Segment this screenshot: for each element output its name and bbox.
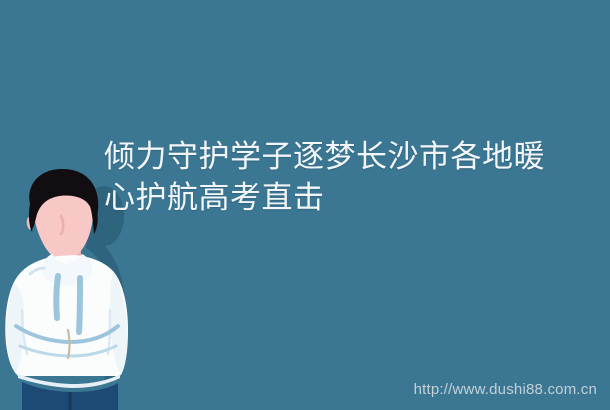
drawstring-right	[79, 278, 80, 332]
drawstring-left	[56, 276, 58, 318]
poster-canvas: 倾力守护学子逐梦长沙市各地暖心护航高考直击 http://www.dushi88…	[0, 0, 610, 410]
hoodie-hem	[18, 374, 120, 388]
watermark-url: http://www.dushi88.com.cn	[414, 381, 597, 398]
page-title: 倾力守护学子逐梦长沙市各地暖心护航高考直击	[104, 136, 574, 218]
